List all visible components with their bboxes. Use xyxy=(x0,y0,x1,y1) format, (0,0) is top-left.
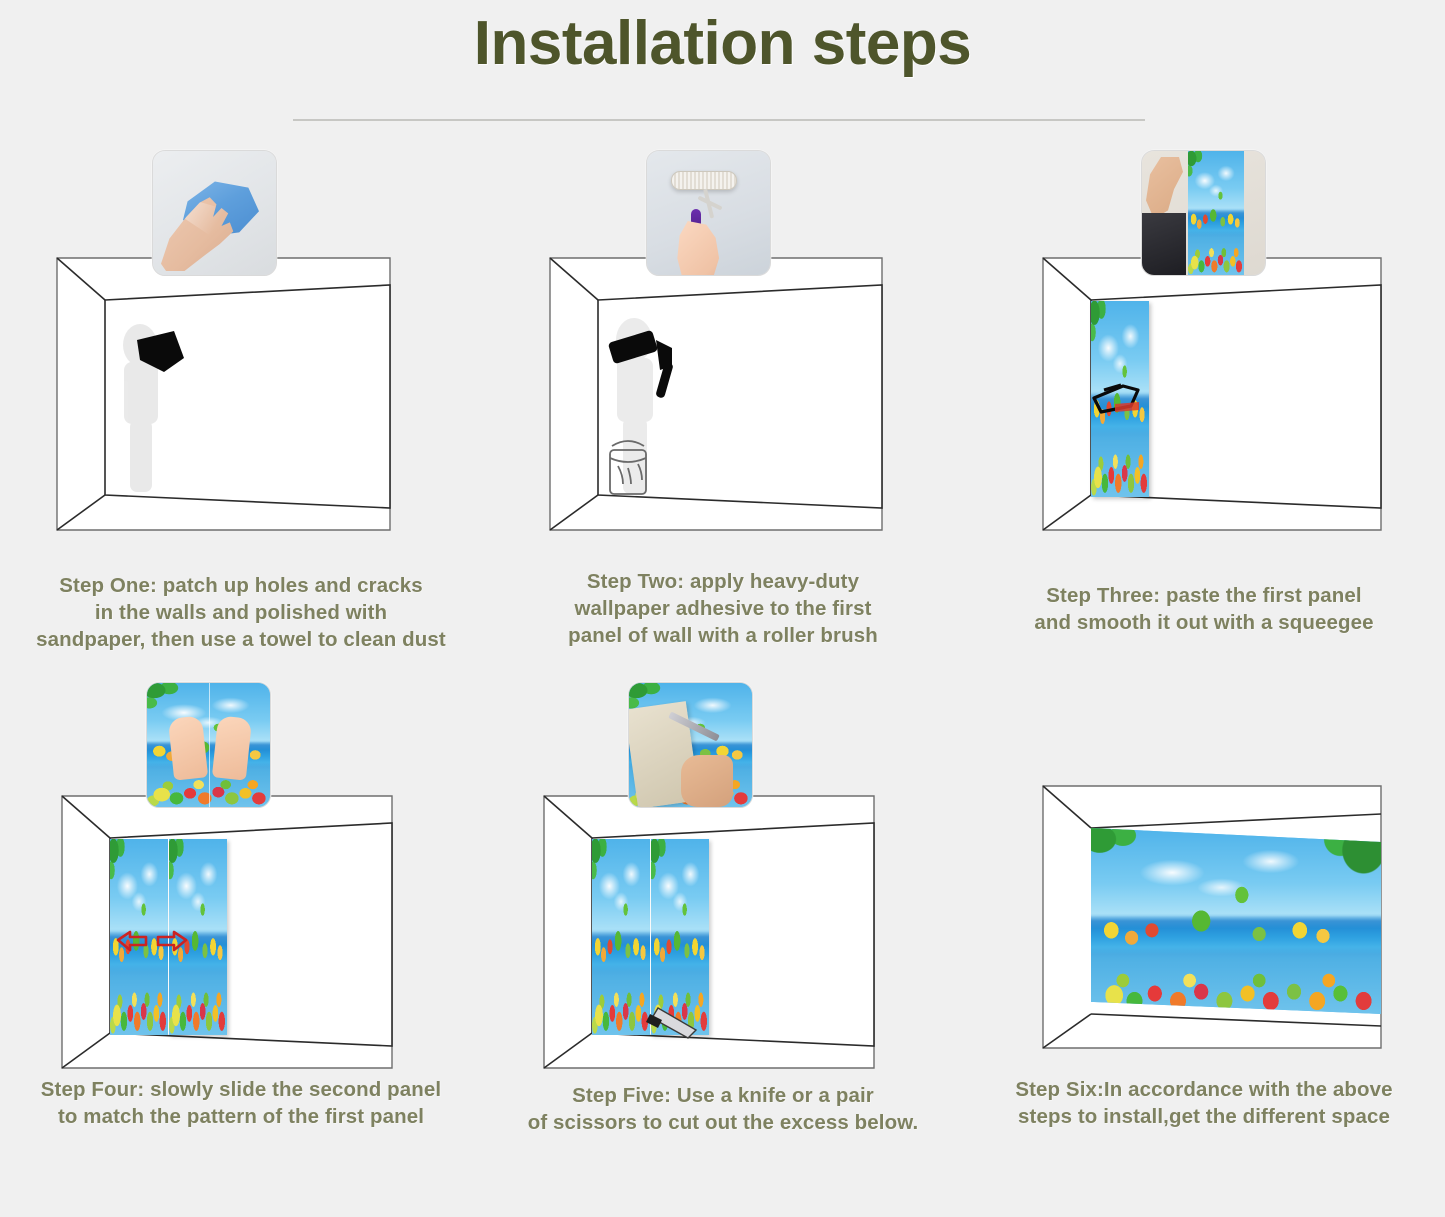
installation-steps-infographic: Installation steps xyxy=(0,0,1445,1217)
mural-panel-2 xyxy=(651,839,709,1035)
caption-line: Step Four: slowly slide the second panel xyxy=(0,1076,482,1103)
step-six-caption: Step Six:In accordance with the above st… xyxy=(963,1076,1445,1130)
step-three-scene xyxy=(963,140,1445,560)
caption-line: to match the pattern of the first panel xyxy=(0,1103,482,1130)
caption-line: Step One: patch up holes and cracks xyxy=(0,572,482,599)
mural-panel-1 xyxy=(110,839,168,1035)
step-one-scene xyxy=(0,140,482,560)
caption-line: and smooth it out with a squeegee xyxy=(963,609,1445,636)
step-two-caption: Step Two: apply heavy-duty wallpaper adh… xyxy=(482,568,964,649)
step-six-scene xyxy=(963,678,1445,1098)
caption-line: panel of wall with a roller brush xyxy=(482,622,964,649)
step-cell-six: Step Six:In accordance with the above st… xyxy=(963,678,1445,1216)
step-three-photo xyxy=(1141,150,1266,276)
step-two-photo xyxy=(646,150,771,276)
step-five-scene xyxy=(482,678,964,1098)
step-cell-one: Step One: patch up holes and cracks in t… xyxy=(0,140,482,678)
steps-row-top: Step One: patch up holes and cracks in t… xyxy=(0,140,1445,678)
steps-grid: Step One: patch up holes and cracks in t… xyxy=(0,140,1445,1216)
page-title: Installation steps xyxy=(0,8,1445,79)
title-divider xyxy=(293,119,1145,121)
step-cell-five: Step Five: Use a knife or a pair of scis… xyxy=(482,678,964,1216)
caption-line: wallpaper adhesive to the first xyxy=(482,595,964,622)
step-three-caption: Step Three: paste the first panel and sm… xyxy=(963,582,1445,636)
right-hand-icon xyxy=(212,715,252,780)
mural-panel-1 xyxy=(1091,301,1149,497)
step-five-photo xyxy=(628,682,753,808)
step-four-caption: Step Four: slowly slide the second panel… xyxy=(0,1076,482,1130)
caption-line: in the walls and polished with xyxy=(0,599,482,626)
caption-line: steps to install,get the different space xyxy=(963,1103,1445,1130)
mural-strip-icon xyxy=(1188,151,1244,275)
step-five-caption: Step Five: Use a knife or a pair of scis… xyxy=(482,1082,964,1136)
step-cell-four: Step Four: slowly slide the second panel… xyxy=(0,678,482,1216)
roller-icon xyxy=(671,171,737,190)
mural-panel-2 xyxy=(169,839,227,1035)
hand-icon xyxy=(681,755,733,807)
caption-line: Step Two: apply heavy-duty xyxy=(482,568,964,595)
caption-line: Step Five: Use a knife or a pair xyxy=(482,1082,964,1109)
step-cell-three: Step Three: paste the first panel and sm… xyxy=(963,140,1445,678)
caption-line: Step Six:In accordance with the above xyxy=(963,1076,1445,1103)
mural-panel-1 xyxy=(592,839,650,1035)
step-cell-two: Step Two: apply heavy-duty wallpaper adh… xyxy=(482,140,964,678)
mural-full-wall xyxy=(1091,828,1381,1014)
step-four-photo xyxy=(146,682,271,808)
caption-line: Step Three: paste the first panel xyxy=(963,582,1445,609)
step-two-scene xyxy=(482,140,964,560)
step-one-photo xyxy=(152,150,277,276)
left-hand-icon xyxy=(168,715,208,780)
step-four-scene xyxy=(0,678,482,1098)
step-one-caption: Step One: patch up holes and cracks in t… xyxy=(0,572,482,653)
steps-row-bottom: Step Four: slowly slide the second panel… xyxy=(0,678,1445,1216)
torso-icon xyxy=(1142,213,1186,276)
caption-line: of scissors to cut out the excess below. xyxy=(482,1109,964,1136)
caption-line: sandpaper, then use a towel to clean dus… xyxy=(0,626,482,653)
